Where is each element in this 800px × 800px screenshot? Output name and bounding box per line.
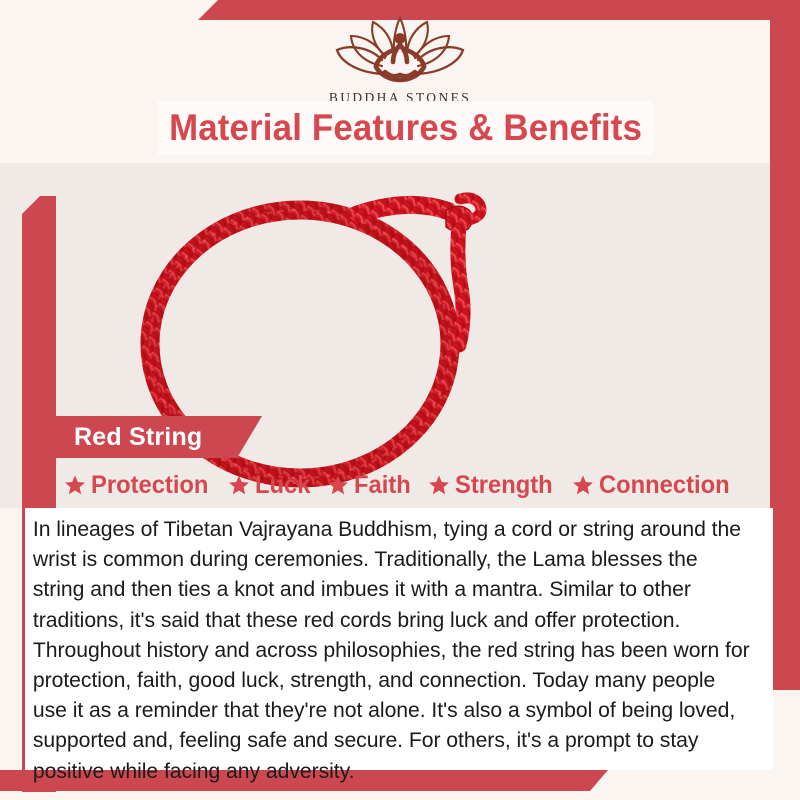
feature-label: Protection xyxy=(91,471,208,500)
description-panel: In lineages of Tibetan Vajrayana Buddhis… xyxy=(25,508,773,770)
star-icon xyxy=(327,474,349,496)
feature-label: Luck xyxy=(255,471,310,500)
feature-label: Connection xyxy=(599,471,730,500)
feature-item-strength: Strength xyxy=(423,471,563,500)
star-icon xyxy=(428,474,450,496)
brand-logo: BUDDHA STONES xyxy=(0,14,800,106)
title-banner: Material Features & Benefits xyxy=(158,101,654,155)
description-paragraph: In lineages of Tibetan Vajrayana Buddhis… xyxy=(25,514,762,786)
ribbon-text: Red String xyxy=(74,423,202,452)
feature-item-connection: Connection xyxy=(567,471,742,500)
feature-item-faith: Faith xyxy=(322,471,419,500)
star-icon xyxy=(228,474,250,496)
feature-item-luck: Luck xyxy=(223,471,318,500)
feature-label: Faith xyxy=(354,471,411,500)
infographic-page: BUDDHA STONES Material Features & Benefi… xyxy=(0,0,800,800)
decor-right-red-bar xyxy=(770,18,800,690)
star-icon xyxy=(64,474,86,496)
star-icon xyxy=(572,474,594,496)
feature-label: Strength xyxy=(455,471,553,500)
page-title: Material Features & Benefits xyxy=(170,107,643,149)
product-ribbon-label: Red String xyxy=(22,416,262,458)
feature-item-protection: Protection xyxy=(59,471,220,500)
benefit-feature-list: Protection Luck Faith xyxy=(0,466,800,504)
lotus-meditation-icon xyxy=(325,14,475,88)
